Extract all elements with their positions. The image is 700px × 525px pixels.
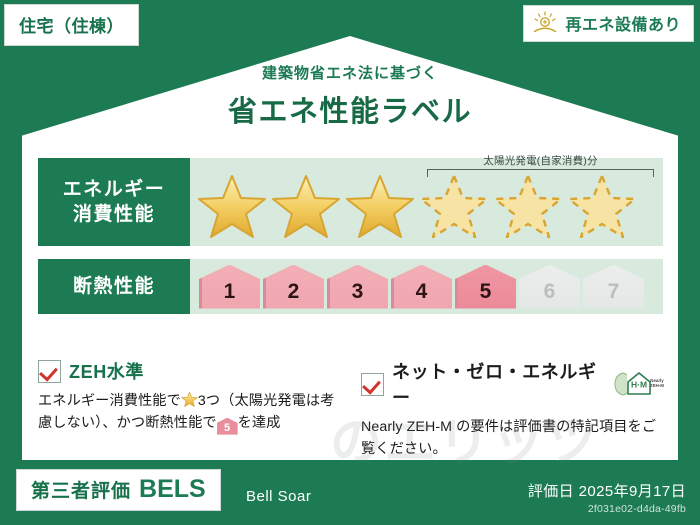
sun-solar-icon <box>532 11 558 35</box>
metrics-container: エネルギー 消費性能 <box>38 158 663 327</box>
insulation-badge-value: 2 <box>288 280 300 304</box>
energy-performance-row: エネルギー 消費性能 <box>38 158 663 246</box>
renewable-badge-label: 再エネ設備あり <box>565 11 681 35</box>
insulation-rating-body: 1 2 3 4 5 6 7 <box>190 259 663 314</box>
insulation-badge-3: 3 <box>327 265 388 309</box>
check-icon <box>361 373 384 396</box>
insulation-badge-4: 4 <box>391 265 452 309</box>
energy-rating-body: 太陽光発電(自家消費)分 <box>190 158 663 246</box>
renewable-energy-badge: 再エネ設備あり <box>523 5 694 42</box>
criterion-nze: ネット・ゼロ・エネルギー H·M Nearly ZEH-M Nearly ZEH… <box>361 358 666 460</box>
insulation-badge-5: 5 <box>455 265 516 309</box>
evaluation-info: 評価日 2025年9月17日 2f031e02-d4da-49fb <box>528 480 686 515</box>
svg-text:H·M: H·M <box>631 380 647 390</box>
energy-label-line2: 消費性能 <box>73 202 155 227</box>
insulation-badge-value: 1 <box>224 280 236 304</box>
check-icon <box>38 360 61 383</box>
insulation-badge-6: 6 <box>519 265 580 309</box>
insulation-badge-value: 4 <box>416 280 428 304</box>
label-board: のエリッツ 住宅（住棟） 再エネ設備あり 建築物省エネ法に基づく 省エネ性能ラベ… <box>0 0 700 525</box>
label-title: 省エネ性能ラベル <box>0 88 700 130</box>
star-rating <box>196 162 638 242</box>
criterion-nze-header: ネット・ゼロ・エネルギー H·M Nearly ZEH-M <box>361 358 666 410</box>
criterion-zeh-body-post: を達成 <box>238 415 281 431</box>
energy-label-line1: エネルギー <box>63 177 166 202</box>
insulation-badge-1: 1 <box>199 265 260 309</box>
criterion-zeh: ZEH水準 エネルギー消費性能で3つ（太陽光発電は考慮しない）、かつ断熱性能で5… <box>38 358 343 460</box>
insulation-badge-value: 3 <box>352 280 364 304</box>
insulation-badge-7: 7 <box>583 265 644 309</box>
criterion-zeh-title: ZEH水準 <box>69 358 144 384</box>
criterion-zeh-header: ZEH水準 <box>38 358 343 384</box>
project-name: Bell Soar <box>246 488 311 505</box>
zeh-m-logo-icon: H·M Nearly ZEH-M <box>612 370 666 398</box>
insulation-badge-value: 5 <box>480 280 492 304</box>
insulation-performance-label: 断熱性能 <box>38 259 190 314</box>
insulation-performance-row: 断熱性能 1 2 3 4 5 6 7 <box>38 259 663 314</box>
bels-jp-label: 第三者評価 <box>31 476 131 503</box>
category-tab: 住宅（住棟） <box>4 4 139 46</box>
star-icon-solar-4 <box>418 172 490 242</box>
criterion-zeh-body: エネルギー消費性能で3つ（太陽光発電は考慮しない）、かつ断熱性能で5を達成 <box>38 391 343 435</box>
svg-text:ZEH-M: ZEH-M <box>650 383 664 388</box>
insulation-badge-value: 7 <box>608 280 620 304</box>
evaluation-date: 評価日 2025年9月17日 <box>528 480 686 501</box>
star-icon-solid-2 <box>270 172 342 242</box>
criteria-section: ZEH水準 エネルギー消費性能で3つ（太陽光発電は考慮しない）、かつ断熱性能で5… <box>38 358 668 460</box>
evaluation-id: 2f031e02-d4da-49fb <box>528 503 686 515</box>
criterion-nze-body: Nearly ZEH-M の要件は評価書の特記項目をご覧ください。 <box>361 417 666 460</box>
star-icon-solid-3 <box>344 172 416 242</box>
criterion-nze-title: ネット・ゼロ・エネルギー <box>392 358 600 410</box>
title-block: 建築物省エネ法に基づく 省エネ性能ラベル <box>0 62 700 130</box>
insulation-badge-2: 2 <box>263 265 324 309</box>
star-icon-solid-1 <box>196 172 268 242</box>
criterion-zeh-body-pre: エネルギー消費性能で <box>38 393 181 409</box>
insulation-badge-value: 6 <box>544 280 556 304</box>
inline-star-icon <box>181 391 198 408</box>
bels-certification-box: 第三者評価 BELS <box>16 469 221 511</box>
star-icon-solar-6 <box>566 172 638 242</box>
label-subtitle: 建築物省エネ法に基づく <box>0 62 700 83</box>
energy-performance-label: エネルギー 消費性能 <box>38 158 190 246</box>
star-icon-solar-5 <box>492 172 564 242</box>
inline-house-icon: 5 <box>217 418 238 435</box>
bels-en-label: BELS <box>139 475 206 504</box>
inline-house-value: 5 <box>224 422 230 434</box>
